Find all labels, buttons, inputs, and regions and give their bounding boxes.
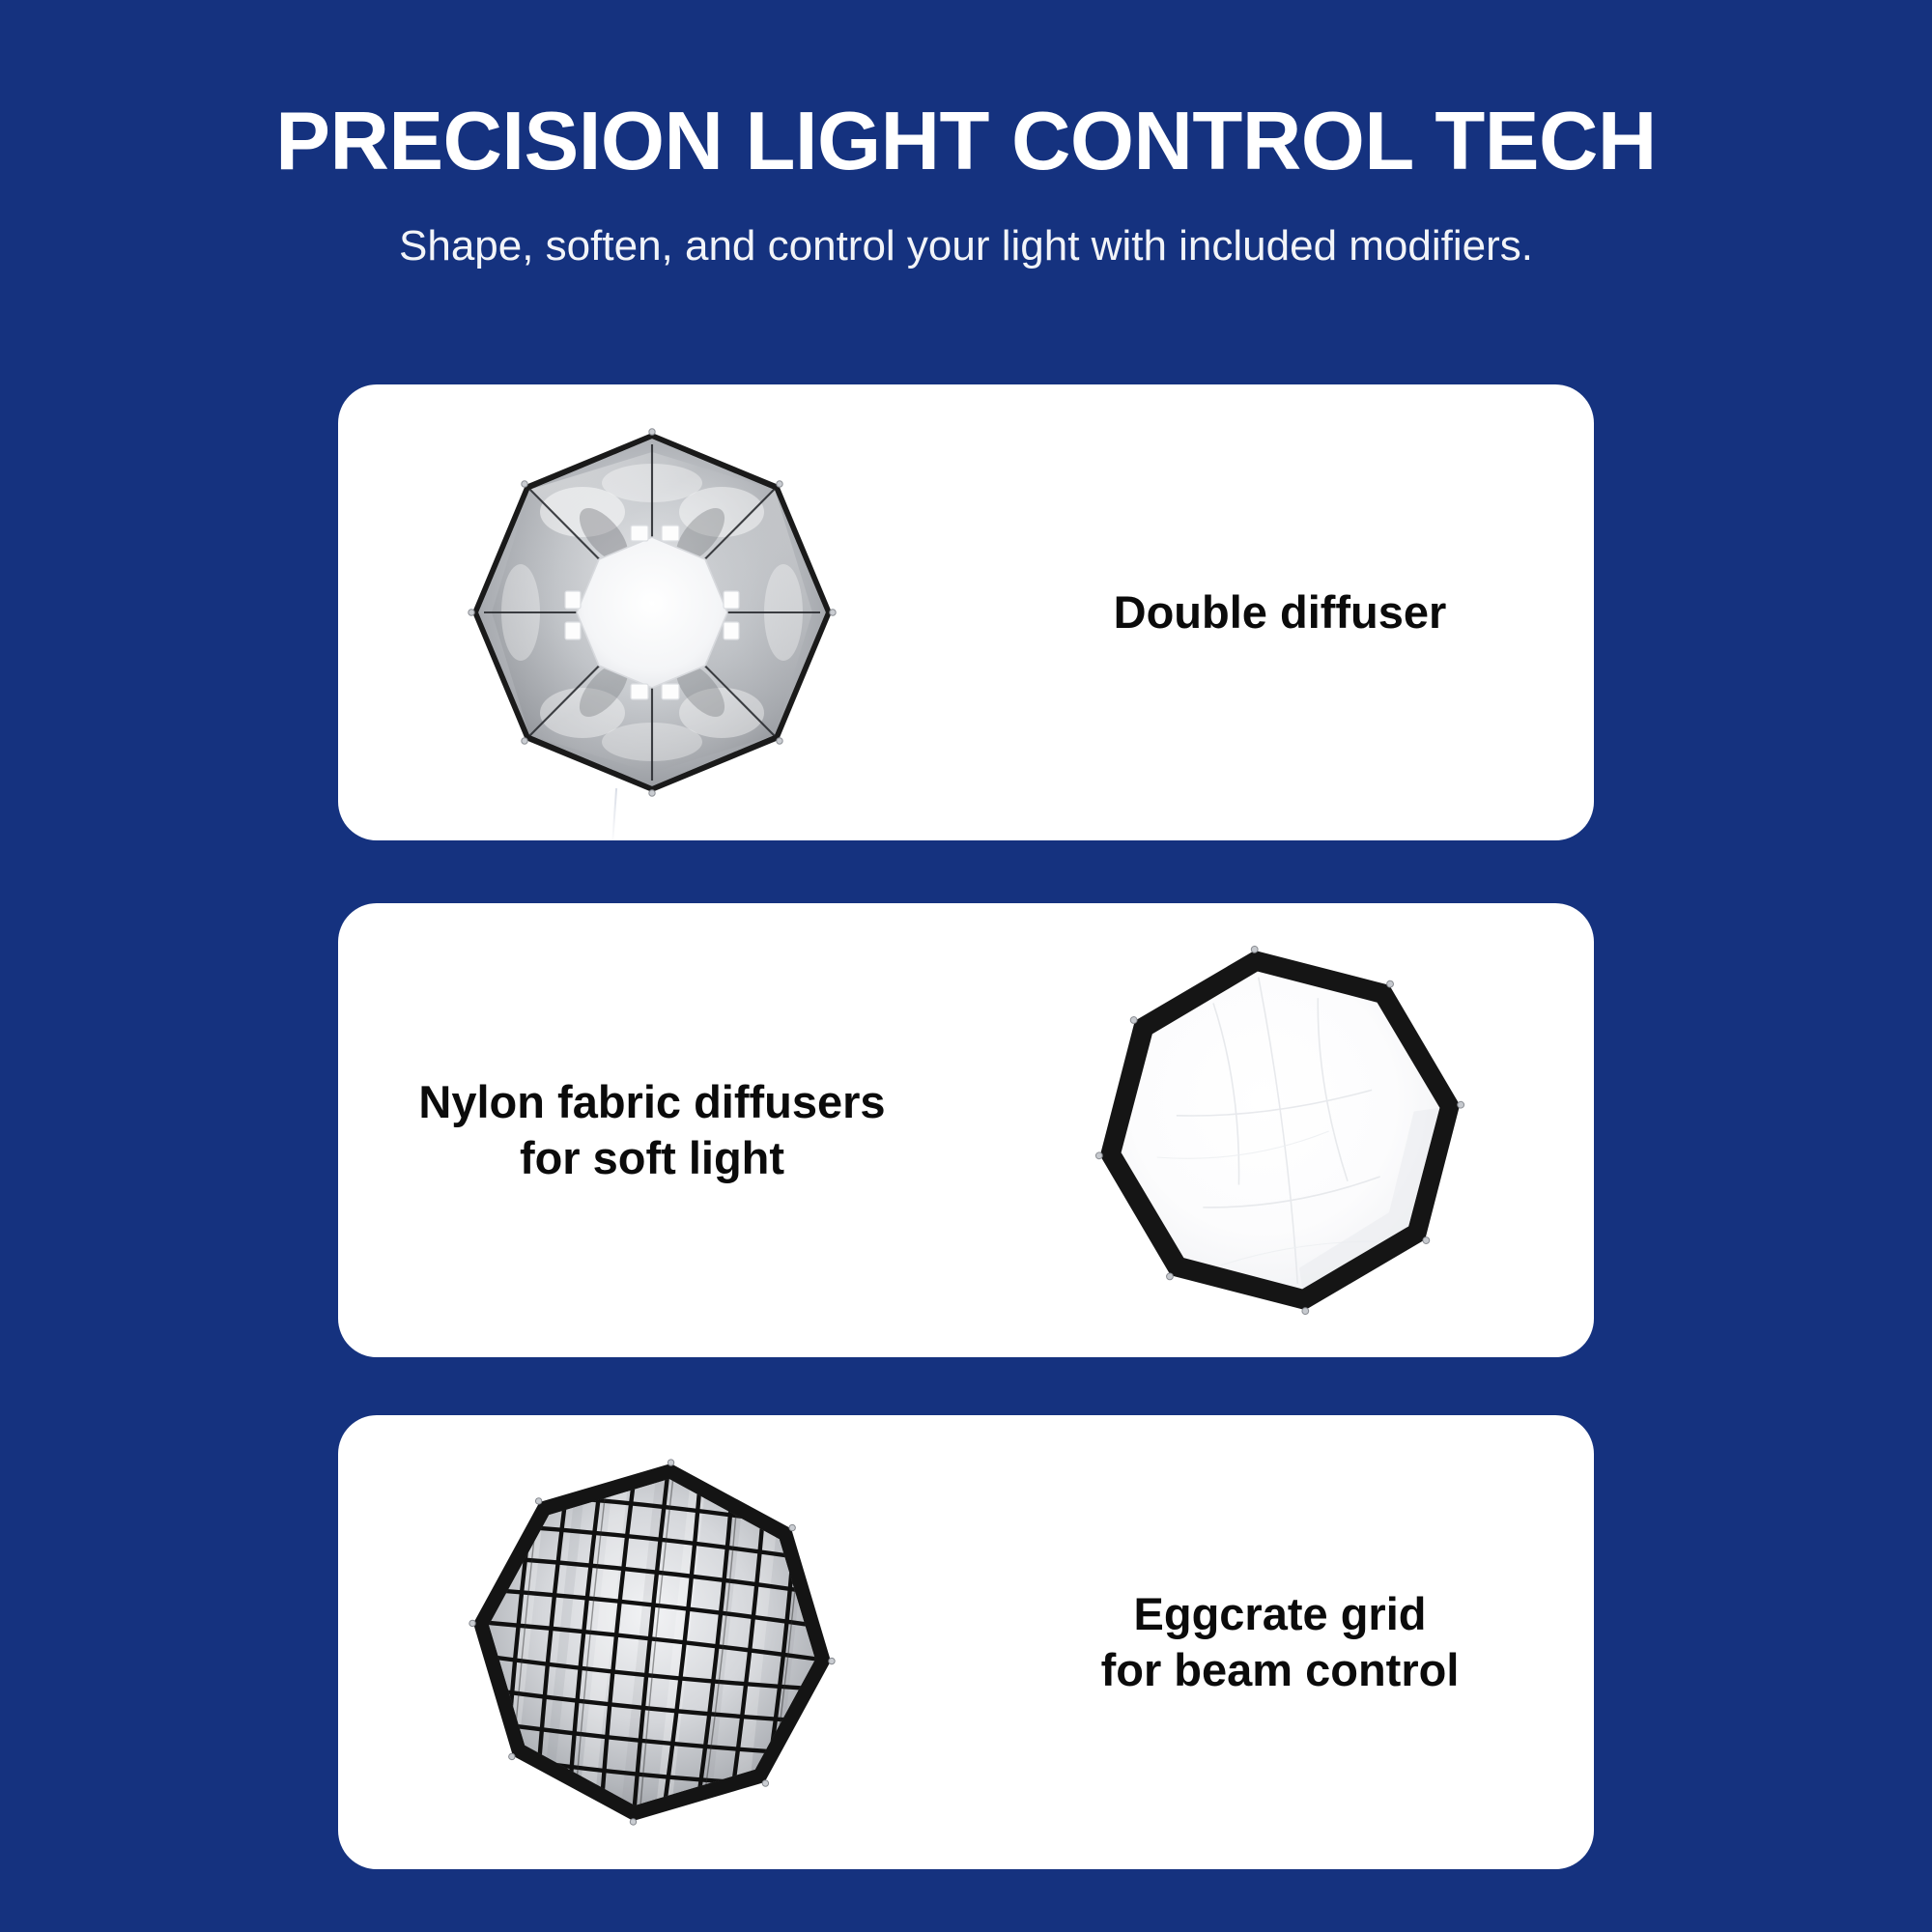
card-media-eggcrate-grid	[338, 1415, 966, 1869]
card-caption-nylon-diffusers: Nylon fabric diffusers for soft light	[338, 903, 966, 1357]
card-media-double-diffuser	[338, 384, 966, 840]
feature-label-nylon-diffusers: Nylon fabric diffusers for soft light	[418, 1074, 885, 1187]
feature-card-double-diffuser: Double diffuser	[338, 384, 1594, 840]
feature-label-eggcrate-grid: Eggcrate grid for beam control	[1101, 1586, 1460, 1699]
feature-card-eggcrate-grid: Eggcrate grid for beam control	[338, 1415, 1594, 1869]
card-caption-double-diffuser: Double diffuser	[966, 384, 1594, 840]
header: PRECISION LIGHT CONTROL TECH Shape, soft…	[0, 0, 1932, 270]
feature-card-nylon-diffusers: Nylon fabric diffusers for soft light	[338, 903, 1594, 1357]
softbox-silver-interior-icon	[459, 419, 845, 806]
page-title: PRECISION LIGHT CONTROL TECH	[0, 100, 1932, 183]
softbox-white-diffuser-icon	[1087, 937, 1473, 1323]
feature-label-double-diffuser: Double diffuser	[1114, 584, 1447, 640]
page-subtitle: Shape, soften, and control your light wi…	[0, 223, 1932, 270]
card-media-nylon-diffusers	[966, 903, 1594, 1357]
card-caption-eggcrate-grid: Eggcrate grid for beam control	[966, 1415, 1594, 1869]
softbox-eggcrate-grid-icon	[459, 1449, 845, 1835]
